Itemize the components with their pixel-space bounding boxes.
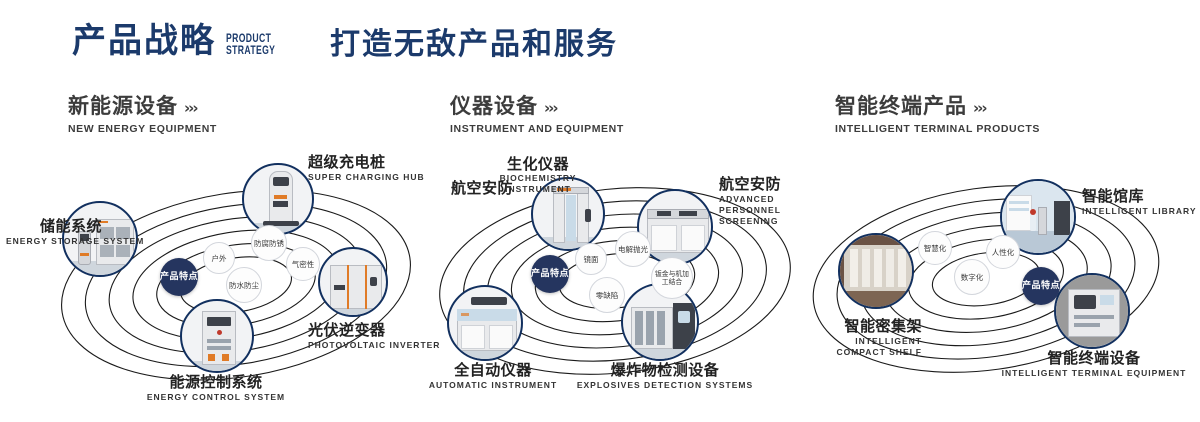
chevron-right-icon: ››› [973, 99, 986, 117]
badge-product-features[interactable]: 产品特点 [160, 258, 198, 296]
charging-hub-photo [244, 165, 312, 233]
poster-canvas: 产品战略 PRODUCT STRATEGY 打造无敌产品和服务 新能源设备›››… [0, 0, 1200, 422]
pv-inverter-photo [320, 249, 386, 315]
section-title-en: INSTRUMENT AND EQUIPMENT [450, 123, 624, 135]
main-title: 产品战略 PRODUCT STRATEGY [72, 24, 294, 58]
label-explosives-detection-systems: 爆炸物检测设备 EXPLOSIVES DETECTION SYSTEMS [575, 361, 755, 391]
bubble-humanized[interactable]: 人性化 [986, 235, 1020, 269]
bubble-outdoor[interactable]: 户外 [203, 242, 235, 274]
label-photovoltaic-inverter: 光伏逆变器 PHOTOVOLTAIC INVERTER [308, 321, 440, 351]
section-title-cn: 智能终端产品››› [835, 94, 1040, 120]
automatic-instrument-photo [449, 287, 521, 359]
chevron-right-icon: ››› [184, 99, 197, 117]
section-title-cn: 新能源设备››› [68, 94, 217, 120]
node-energy-control-system[interactable] [180, 299, 254, 373]
node-automatic-instrument[interactable] [447, 285, 523, 361]
bubble-waterproof-dustproof[interactable]: 防水防尘 [226, 267, 262, 303]
badge-label: 产品特点 [160, 272, 198, 282]
node-super-charging-hub[interactable] [242, 163, 314, 235]
badge-product-features[interactable]: 产品特点 [1022, 267, 1060, 305]
label-intelligent-compact-shelf: 智能密集架 INTELLIGENT COMPACT SHELF [766, 317, 922, 358]
bubble-zero-defect[interactable]: 零缺陷 [589, 277, 625, 313]
label-intelligent-library: 智能馆库 INTELLIGENT LIBRARY [1082, 187, 1197, 217]
badge-label: 产品特点 [1022, 281, 1060, 291]
section-title-cn: 仪器设备››› [450, 94, 624, 120]
bubble-digital[interactable]: 数字化 [954, 259, 990, 295]
cluster-instrument: 航空安防 生化仪器 BIOCHEMISTRY INSTRUMENT 航空安防 A… [425, 155, 825, 405]
section-title-instrument: 仪器设备››› INSTRUMENT AND EQUIPMENT [450, 94, 624, 135]
section-title-en: NEW ENERGY EQUIPMENT [68, 123, 217, 135]
section-title-intelligent-terminal: 智能终端产品››› INTELLIGENT TERMINAL PRODUCTS [835, 94, 1040, 135]
bubble-anti-corrosion[interactable]: 防腐防锈 [251, 225, 287, 261]
badge-label: 产品特点 [531, 269, 569, 279]
label-biochemistry-instrument: 生化仪器 BIOCHEMISTRY INSTRUMENT [453, 155, 623, 195]
compact-shelf-photo [840, 235, 912, 307]
bubble-electrolytic-polishing[interactable]: 电解抛光 [615, 231, 651, 267]
main-title-cn: 产品战略 [72, 24, 216, 58]
section-title-new-energy: 新能源设备››› NEW ENERGY EQUIPMENT [68, 94, 217, 135]
section-title-en: INTELLIGENT TERMINAL PRODUCTS [835, 123, 1040, 135]
subtitle: 打造无敌产品和服务 [330, 30, 618, 60]
main-title-en-line2: STRATEGY [226, 43, 275, 57]
main-title-en: PRODUCT STRATEGY [226, 32, 275, 56]
bubble-sheet-metal-machining[interactable]: 钣金与机加工结合 [651, 257, 693, 299]
node-intelligent-terminal-equipment[interactable] [1054, 273, 1130, 349]
label-automatic-instrument: 全自动仪器 AUTOMATIC INSTRUMENT [413, 361, 573, 391]
energy-control-photo [182, 301, 252, 371]
label-energy-storage-system: 储能系统 ENERGY STORAGE SYSTEM [6, 217, 102, 247]
cluster-intelligent-terminal: 智能馆库 INTELLIGENT LIBRARY 智能密集架 INTELLIGE… [800, 155, 1200, 405]
label-intelligent-terminal-equipment: 智能终端设备 INTELLIGENT TERMINAL EQUIPMENT [998, 349, 1190, 379]
cluster-new-energy: 储能系统 ENERGY STORAGE SYSTEM 超级充电桩 SUPER C… [40, 155, 440, 405]
node-photovoltaic-inverter[interactable] [318, 247, 388, 317]
bubble-airtightness[interactable]: 气密性 [286, 247, 320, 281]
label-energy-control-system: 能源控制系统 ENERGY CONTROL SYSTEM [126, 373, 306, 403]
terminal-equipment-photo [1056, 275, 1128, 347]
explosives-detection-photo [623, 285, 697, 359]
badge-product-features[interactable]: 产品特点 [531, 255, 569, 293]
bubble-intelligent[interactable]: 智慧化 [918, 231, 952, 265]
chevron-right-icon: ››› [544, 99, 557, 117]
node-intelligent-compact-shelf[interactable] [838, 233, 914, 309]
label-super-charging-hub: 超级充电桩 SUPER CHARGING HUB [308, 153, 425, 183]
bubble-mirror-finish[interactable]: 镜面 [575, 243, 607, 275]
